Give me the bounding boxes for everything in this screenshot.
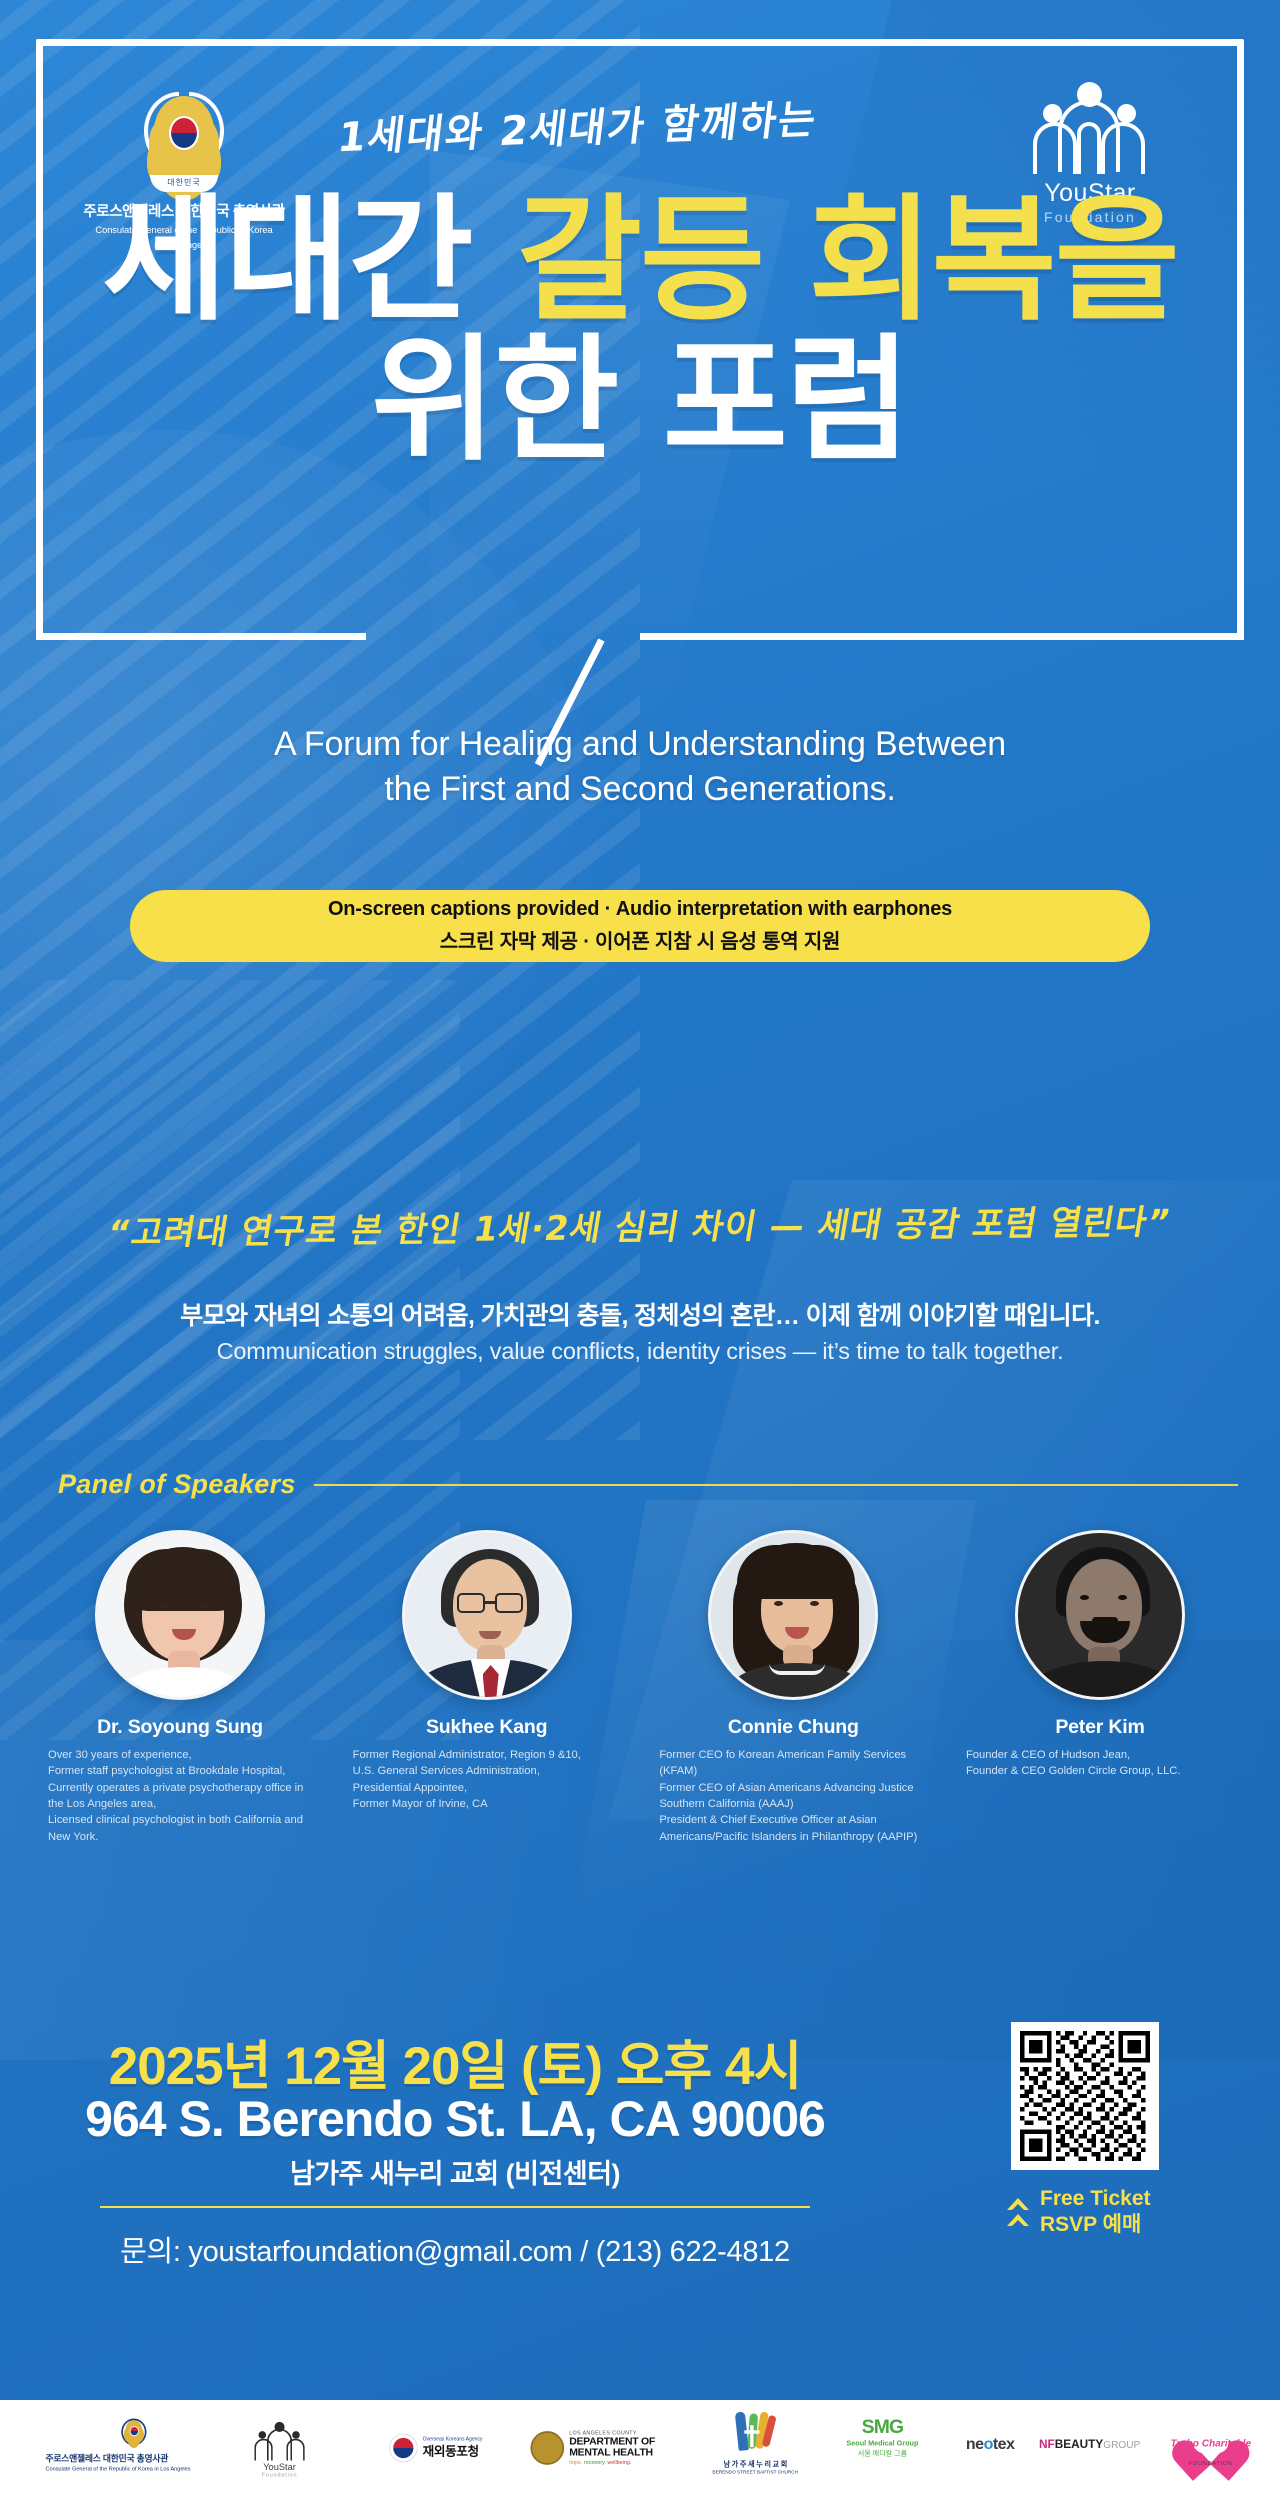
- neotex-part-b: o: [984, 2435, 993, 2453]
- footer-logo-youstar: YouStar Foundation: [241, 2422, 318, 2478]
- quote-english: Communication struggles, value conflicts…: [0, 1338, 1280, 1365]
- nf-group: GROUP: [1103, 2439, 1140, 2451]
- free-ticket-cta[interactable]: Free Ticket RSVP 예매: [1005, 2186, 1235, 2237]
- panel-heading-rule: [314, 1484, 1238, 1486]
- youstar-figures-small-icon: [252, 2422, 308, 2461]
- korea-emblem-small-icon: [120, 2419, 149, 2449]
- event-contact: 문의: youstarfoundation@gmail.com / (213) …: [0, 2228, 910, 2270]
- speaker-card: Connie Chung Former CEO fo Korean Americ…: [653, 1530, 933, 1845]
- accessibility-english: On-screen captions provided · Audio inte…: [328, 898, 952, 921]
- nf-mark: NF: [1039, 2437, 1055, 2450]
- taeguk-icon: [389, 2434, 418, 2463]
- nf-beauty: BEAUTY: [1055, 2437, 1103, 2450]
- speaker-card: Dr. Soyoung Sung Over 30 years of experi…: [40, 1530, 320, 1845]
- subtitle-line1: A Forum for Healing and Understanding Be…: [0, 722, 1280, 767]
- neotex-part-c: tex: [993, 2435, 1015, 2453]
- footer-logo-consulate: 주로스앤젤레스 대한민국 총영사관 Consulate General of t…: [45, 2419, 222, 2473]
- event-date: 2025년 12월 20일 (토) 오후 4시: [0, 2024, 910, 2100]
- footer-consulate-korean: 주로스앤젤레스 대한민국 총영사관: [45, 2452, 222, 2465]
- speaker-bio: Former Regional Administrator, Region 9 …: [347, 1747, 627, 1812]
- qr-code-image: [1020, 2031, 1150, 2161]
- speaker-bio: Over 30 years of experience, Former staf…: [40, 1747, 320, 1845]
- footer-logo-dept-mental-health: LOS ANGELES COUNTY DEPARTMENT OF MENTAL …: [530, 2430, 682, 2465]
- smg-english: Seoul Medical Group: [823, 2439, 941, 2447]
- speaker-photo: [1015, 1530, 1185, 1700]
- accessibility-korean: 스크린 자막 제공 · 이어폰 지참 시 음성 통역 지원: [440, 925, 840, 954]
- speaker-photo: [708, 1530, 878, 1700]
- oka-korean: 재외동포청: [423, 2442, 483, 2460]
- dmh-tag-wellbeing: wellbeing.: [607, 2460, 631, 2466]
- ticket-line-2: RSVP 예매: [1040, 2212, 1151, 2238]
- speaker-name: Dr. Soyoung Sung: [40, 1716, 320, 1739]
- footer-logo-berendo-church: 남 가 주 새 누 리 교 회 BERENDO STREET BAPTIST C…: [701, 2412, 810, 2475]
- dmh-line3: MENTAL HEALTH: [569, 2447, 655, 2458]
- title-line1-highlight: 갈등 회복을: [517, 182, 1178, 340]
- speaker-bio: Founder & CEO of Hudson Jean, Founder & …: [960, 1747, 1240, 1780]
- speaker-name: Connie Chung: [653, 1716, 933, 1739]
- speaker-list: Dr. Soyoung Sung Over 30 years of experi…: [40, 1530, 1240, 1845]
- ticket-line-1: Free Ticket: [1040, 2186, 1151, 2212]
- hero-frame-bottom-left: [36, 633, 366, 640]
- speaker-card: Sukhee Kang Former Regional Administrato…: [347, 1530, 627, 1845]
- korea-emblem-icon: 대한민국: [138, 88, 230, 192]
- la-county-seal-icon: [530, 2431, 564, 2465]
- hero-frame-bottom-right: [640, 633, 1244, 640]
- church-english: BERENDO STREET BAPTIST CHURCH: [701, 2470, 810, 2475]
- title-line2: 위한 포럼: [0, 336, 1280, 468]
- footer-consulate-english: Consulate General of the Republic of Kor…: [45, 2467, 222, 2473]
- footer-youstar-sub: Foundation: [241, 2472, 318, 2478]
- speaker-photo: [95, 1530, 265, 1700]
- qr-code[interactable]: [1011, 2022, 1159, 2170]
- double-chevron-up-icon: [1005, 2193, 1031, 2231]
- footer-logo-turbo-charitable: Turbo Charitable FOUNDATION: [1160, 2420, 1261, 2466]
- panel-heading-label: Panel of Speakers: [58, 1469, 296, 1500]
- speaker-bio: Former CEO fo Korean American Family Ser…: [653, 1747, 933, 1845]
- panel-heading: Panel of Speakers: [58, 1469, 1238, 1500]
- youstar-figures-icon: [1025, 82, 1155, 174]
- event-poster: 대한민국 주로스앤젤레스 대한민국 총영사관 Consulate General…: [0, 0, 1280, 2509]
- turbo-name: Turbo Charitable: [1160, 2437, 1261, 2449]
- neotex-part-a: ne: [966, 2435, 984, 2453]
- dmh-tag-hope: hope.: [569, 2460, 582, 2466]
- speaker-name: Sukhee Kang: [347, 1716, 627, 1739]
- title-line1-plain: 세대간: [102, 182, 517, 340]
- quote-korean: 부모와 자녀의 소통의 어려움, 가치관의 충돌, 정체성의 혼란… 이제 함께…: [0, 1296, 1280, 1332]
- contact-divider: [100, 2206, 810, 2208]
- subtitle-line2: the First and Second Generations.: [0, 767, 1280, 812]
- event-venue: 남가주 새누리 교회 (비전센터): [0, 2152, 910, 2191]
- speaker-name: Peter Kim: [960, 1716, 1240, 1739]
- event-address: 964 S. Berendo St. LA, CA 90006: [0, 2090, 910, 2148]
- footer-logo-overseas-koreans-agency: Overseas Koreans Agency 재외동포청: [389, 2434, 507, 2463]
- smg-monogram: SMG: [823, 2417, 941, 2436]
- accessibility-banner: On-screen captions provided · Audio inte…: [130, 890, 1150, 962]
- turbo-foundation: FOUNDATION: [1160, 2461, 1261, 2467]
- sponsor-footer: 주로스앤젤레스 대한민국 총영사관 Consulate General of t…: [0, 2400, 1280, 2509]
- oka-english: Overseas Koreans Agency: [423, 2437, 483, 2442]
- speaker-photo: [402, 1530, 572, 1700]
- smg-korean: 서울 메디칼 그룹: [823, 2448, 941, 2458]
- poster-subtitle: A Forum for Healing and Understanding Be…: [0, 722, 1280, 812]
- footer-logo-neotex: neotex: [950, 2435, 1031, 2454]
- flame-cross-icon: [732, 2412, 779, 2459]
- speaker-card: Peter Kim Founder & CEO of Hudson Jean, …: [960, 1530, 1240, 1845]
- footer-logo-nf-beauty-group: NFBEAUTYGROUP: [1039, 2437, 1148, 2452]
- footer-youstar-name: YouStar: [241, 2462, 318, 2472]
- church-korean: 남 가 주 새 누 리 교 회: [701, 2459, 810, 2469]
- dmh-tag-recovery: recovery.: [584, 2460, 606, 2466]
- footer-logo-seoul-medical-group: SMG Seoul Medical Group 서울 메디칼 그룹: [823, 2417, 941, 2458]
- poster-title: 세대간 갈등 회복을 위한 포럼: [0, 196, 1280, 468]
